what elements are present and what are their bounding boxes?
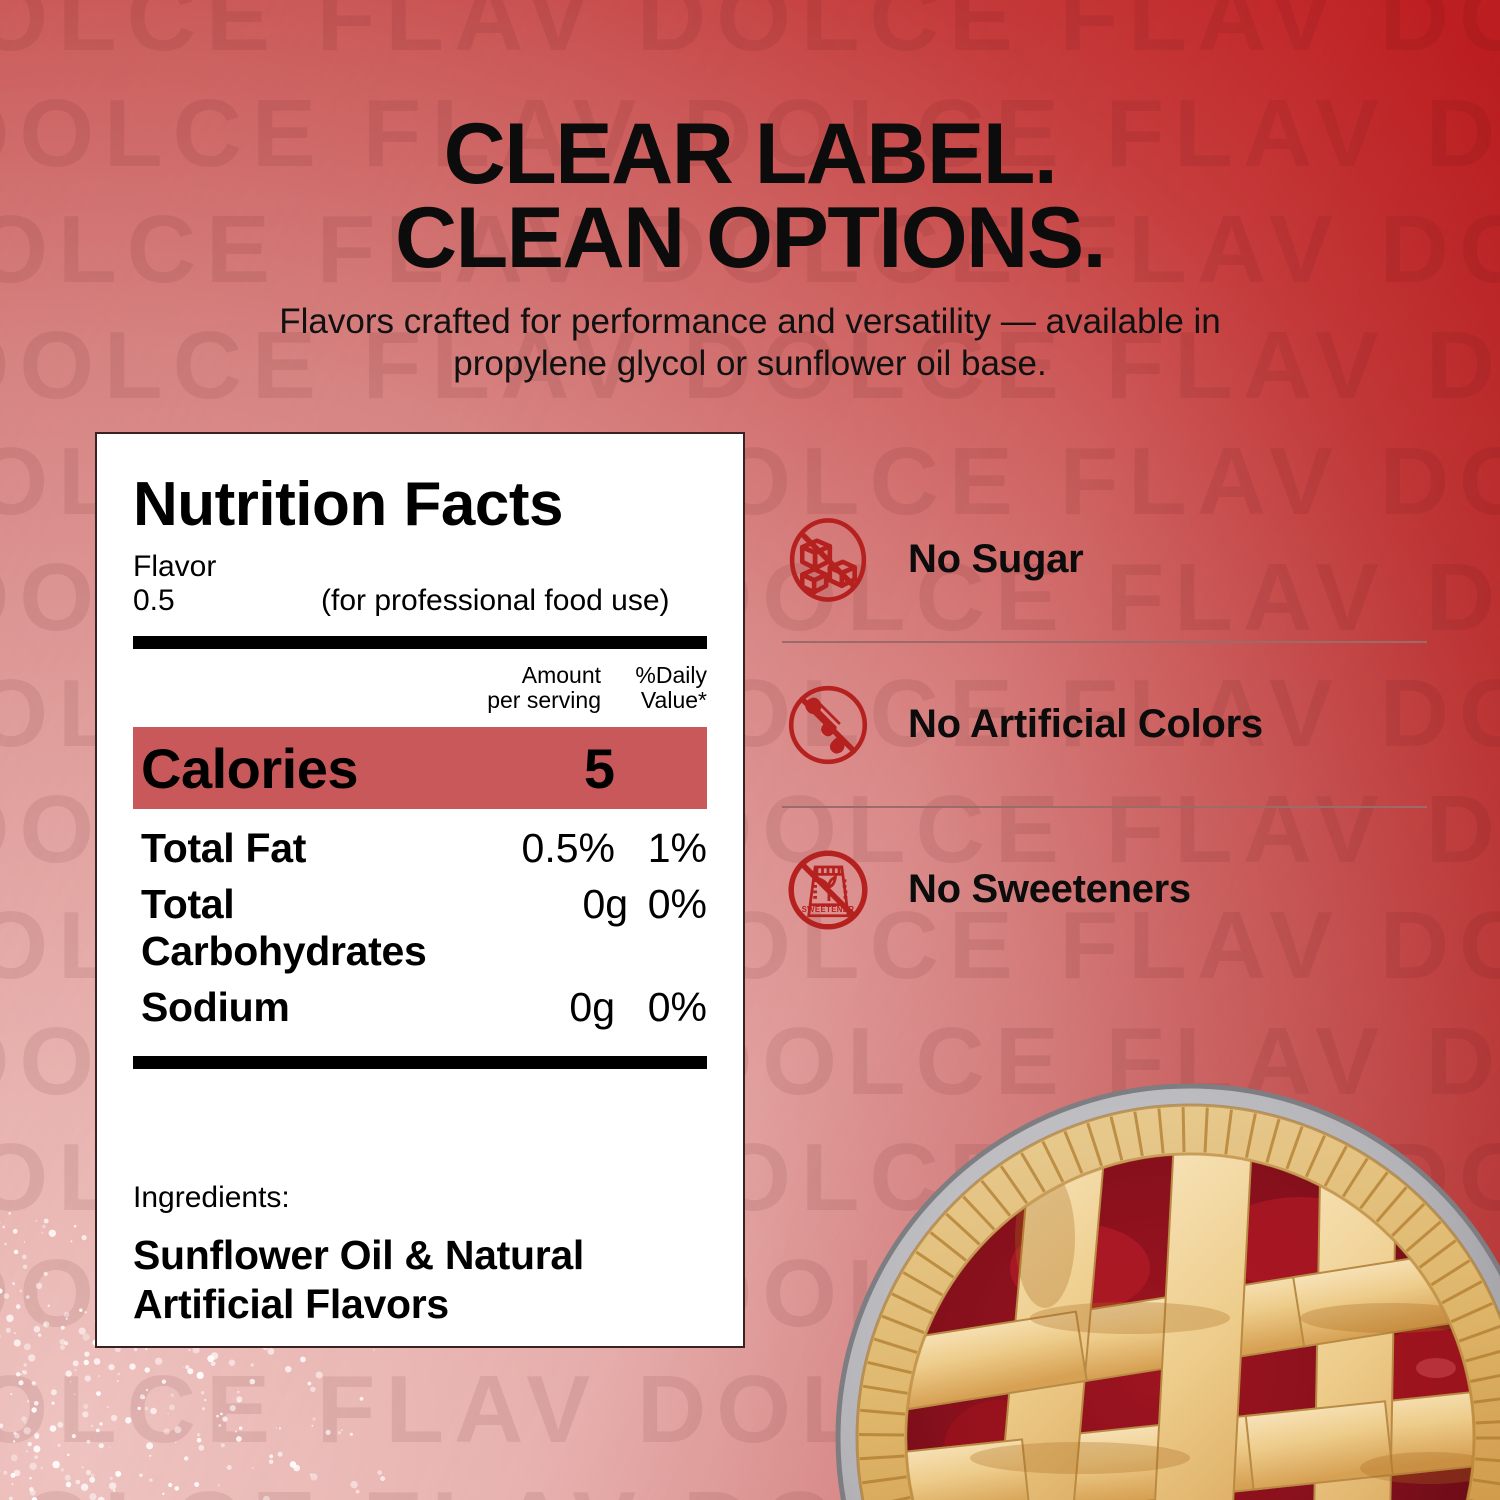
product-infographic-poster: DOLCE FLAV DOLCE FLAV DOLCE FLAV DOLCE F… [0,0,1500,1500]
serving-size-row: 0.5 (for professional food use) [133,584,707,618]
nutrient-label: Total Carbohydrates [141,881,475,975]
ingredients-section: Ingredients: Sunflower Oil & Natural Art… [133,1181,707,1328]
nutrition-column-headers: Amount per serving %Daily Value* [133,663,707,713]
no-dropper-dye-icon [782,679,874,771]
feature-label: No Sweeteners [908,867,1191,912]
column-header-daily-value: %Daily Value* [615,663,707,713]
calories-value: 5 [584,736,615,801]
nutrient-daily-value: 1% [615,825,707,872]
nutrient-daily-value: 0% [615,984,707,1031]
serving-name: Flavor [133,549,707,584]
nutrient-amount: 0g [437,984,615,1031]
column-header-dv-line2: Value* [615,688,707,713]
column-header-amount-line1: Amount [423,663,601,688]
nutrient-label: Total Fat [141,825,437,872]
no-sugar-cubes-icon [782,514,874,606]
ingredients-text: Sunflower Oil & Natural Artificial Flavo… [133,1231,707,1328]
feature-claim: No Artificial Colors [782,641,1427,806]
page-title: CLEAR LABEL. CLEAN OPTIONS. [90,112,1410,281]
nutrition-rule-bottom [133,1056,707,1069]
ingredients-label: Ingredients: [133,1181,707,1215]
nutrient-label: Sodium [141,984,437,1031]
no-sweetener-packet-icon: SWEETENER [782,844,874,936]
column-header-dv-line1: %Daily [615,663,707,688]
nutrient-rows: Total Fat0.5%1%Total Carbohydrates0g0%So… [133,819,707,1034]
product-photo-cherry-pie [830,1018,1500,1500]
subheadline: Flavors crafted for performance and vers… [200,301,1300,386]
column-header-amount-line2: per serving [423,688,601,713]
headline-line-2: CLEAN OPTIONS. [90,196,1410,280]
nutrient-row: Total Carbohydrates0g0% [133,875,707,978]
nutrition-facts-card: Nutrition Facts Flavor 0.5 (for professi… [95,432,745,1348]
headline-line-1: CLEAR LABEL. [444,106,1057,202]
nutrient-amount: 0.5% [437,825,615,872]
nutrient-row: Sodium0g0% [133,978,707,1034]
feature-claim: SWEETENERNo Sweeteners [782,806,1427,971]
nutrition-rule-top [133,636,707,649]
nutrient-daily-value: 0% [628,881,707,928]
calories-label: Calories [141,736,358,801]
professional-use-note: (for professional food use) [321,584,670,618]
feature-label: No Artificial Colors [908,702,1263,747]
column-header-amount: Amount per serving [423,663,601,713]
feature-claims-list: No SugarNo Artificial ColorsSWEETENERNo … [782,478,1427,971]
nutrient-amount: 0g [475,881,628,928]
nutrient-row: Total Fat0.5%1% [133,819,707,875]
feature-claim: No Sugar [782,478,1427,641]
calories-bar: Calories 5 [133,727,707,809]
serving-size-value: 0.5 [133,584,321,618]
nutrition-facts-title: Nutrition Facts [133,472,707,537]
feature-label: No Sugar [908,537,1083,582]
headline-block: CLEAR LABEL. CLEAN OPTIONS. Flavors craf… [0,112,1500,386]
